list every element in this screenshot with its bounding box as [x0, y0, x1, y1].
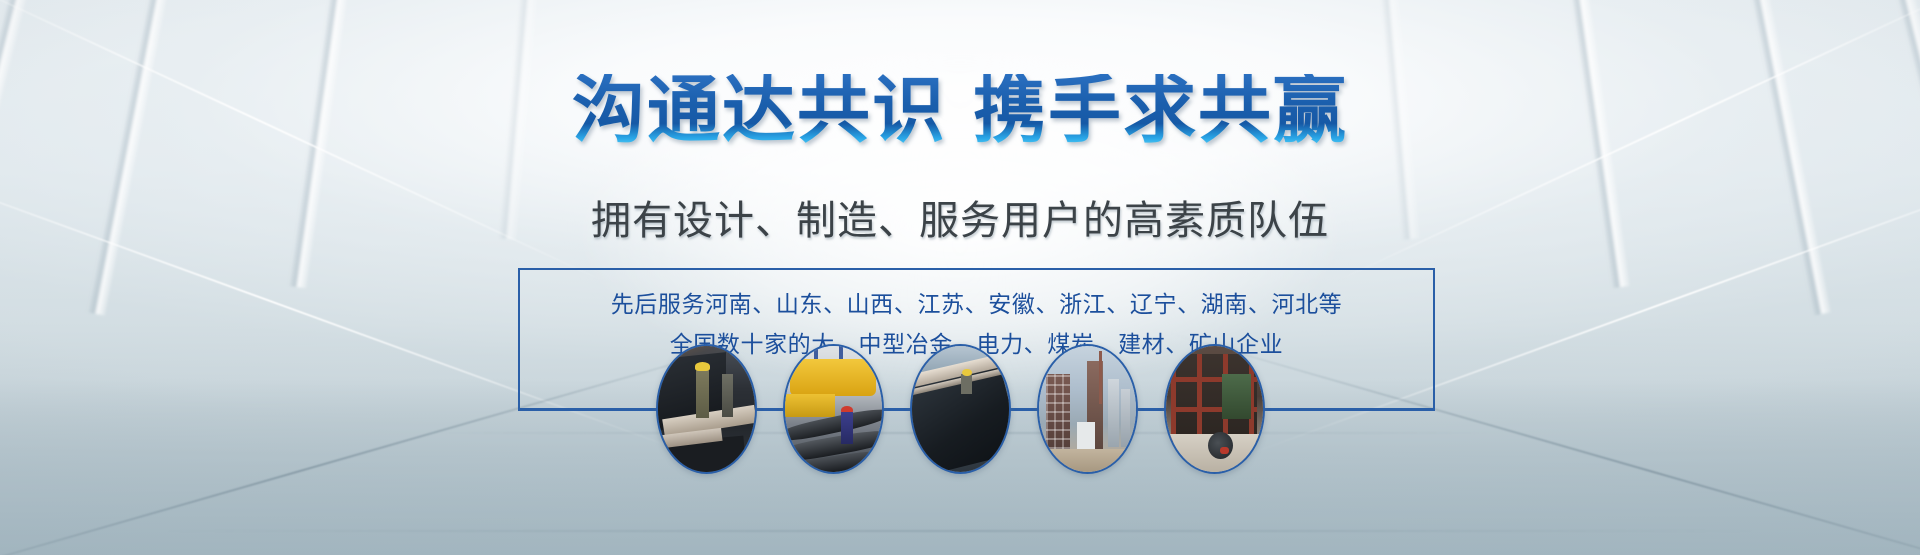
project-photo-3[interactable]	[910, 344, 1011, 474]
project-photo-5[interactable]	[1164, 344, 1265, 474]
project-photo-3-image	[912, 346, 1009, 472]
service-info-line-1: 先后服务河南、山东、山西、江苏、安徽、浙江、辽宁、湖南、河北等	[518, 284, 1435, 324]
project-photo-2[interactable]	[783, 344, 884, 474]
project-photo-strip	[0, 344, 1920, 474]
banner-content: 沟通达共识携手求共赢 拥有设计、制造、服务用户的高素质队伍 先后服务河南、山东、…	[0, 0, 1920, 555]
subtitle: 拥有设计、制造、服务用户的高素质队伍	[0, 199, 1920, 243]
project-photo-1-image	[658, 346, 755, 472]
headline-left: 沟通达共识	[572, 70, 947, 151]
project-photo-5-image	[1166, 346, 1263, 472]
project-photo-4[interactable]	[1037, 344, 1138, 474]
project-photo-2-image	[785, 346, 882, 472]
project-photo-4-image	[1039, 346, 1136, 472]
headline: 沟通达共识携手求共赢	[0, 74, 1920, 147]
promotional-banner: 沟通达共识携手求共赢 拥有设计、制造、服务用户的高素质队伍 先后服务河南、山东、…	[0, 0, 1920, 555]
project-photo-1[interactable]	[656, 344, 757, 474]
headline-right: 携手求共赢	[973, 70, 1348, 151]
